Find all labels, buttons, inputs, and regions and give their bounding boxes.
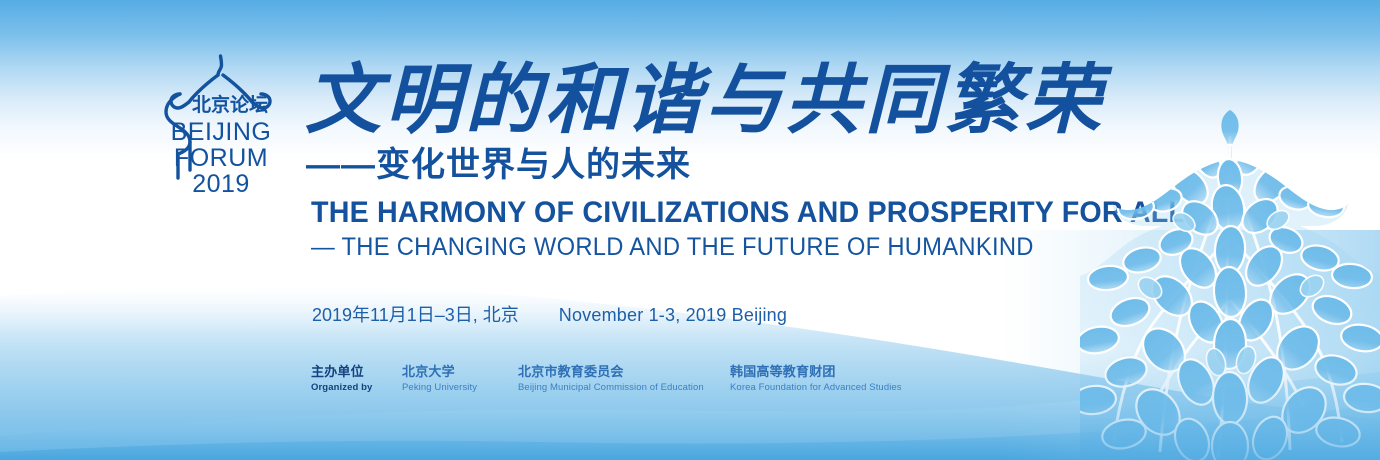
title-english-main: THE HARMONY OF CIVILIZATIONS AND PROSPER…: [311, 198, 1186, 228]
beijing-forum-logo[interactable]: 北京论坛 BEIJING FORUM 2019: [160, 52, 282, 194]
logo-forum-text: FORUM: [160, 146, 282, 171]
beijing-forum-2019-banner: 北京论坛 BEIJING FORUM 2019 文明的和谐与共同繁荣 ——变化世…: [0, 0, 1380, 460]
organizer-3-cn: 韩国高等教育财团: [730, 363, 930, 381]
organizer-2-en: Beijing Municipal Commission of Educatio…: [518, 381, 730, 395]
event-date-row: 2019年11月1日–3日, 北京 November 1-3, 2019 Bei…: [312, 306, 787, 324]
organizer-label-cn: 主办单位: [311, 363, 402, 381]
organizer-peking-university: 北京大学 Peking University: [402, 363, 518, 394]
event-date-english: November 1-3, 2019 Beijing: [559, 306, 787, 324]
main-title-calligraphy: 文明的和谐与共同繁荣: [305, 58, 1005, 148]
organizer-label: 主办单位 Organized by: [311, 363, 402, 394]
organizer-3-en: Korea Foundation for Advanced Studies: [730, 381, 930, 395]
organizers-row: 主办单位 Organized by 北京大学 Peking University…: [311, 363, 930, 394]
organizer-korea-foundation: 韩国高等教育财团 Korea Foundation for Advanced S…: [730, 363, 930, 394]
logo-year-text: 2019: [160, 172, 282, 197]
organizer-label-en: Organized by: [311, 381, 402, 395]
event-date-chinese: 2019年11月1日–3日, 北京: [312, 306, 519, 324]
main-title-chinese: 文明的和谐与共同繁荣: [305, 62, 1005, 138]
organizer-2-cn: 北京市教育委员会: [518, 363, 730, 381]
logo-beijing-text: BEIJING: [160, 120, 282, 145]
organizer-1-cn: 北京大学: [402, 363, 518, 381]
subtitle-chinese: ——变化世界与人的未来: [306, 148, 691, 182]
logo-chinese-text: 北京论坛: [184, 96, 276, 115]
title-english-sub: — THE CHANGING WORLD AND THE FUTURE OF H…: [311, 235, 1034, 260]
organizer-beijing-education-commission: 北京市教育委员会 Beijing Municipal Commission of…: [518, 363, 730, 394]
organizer-1-en: Peking University: [402, 381, 518, 395]
